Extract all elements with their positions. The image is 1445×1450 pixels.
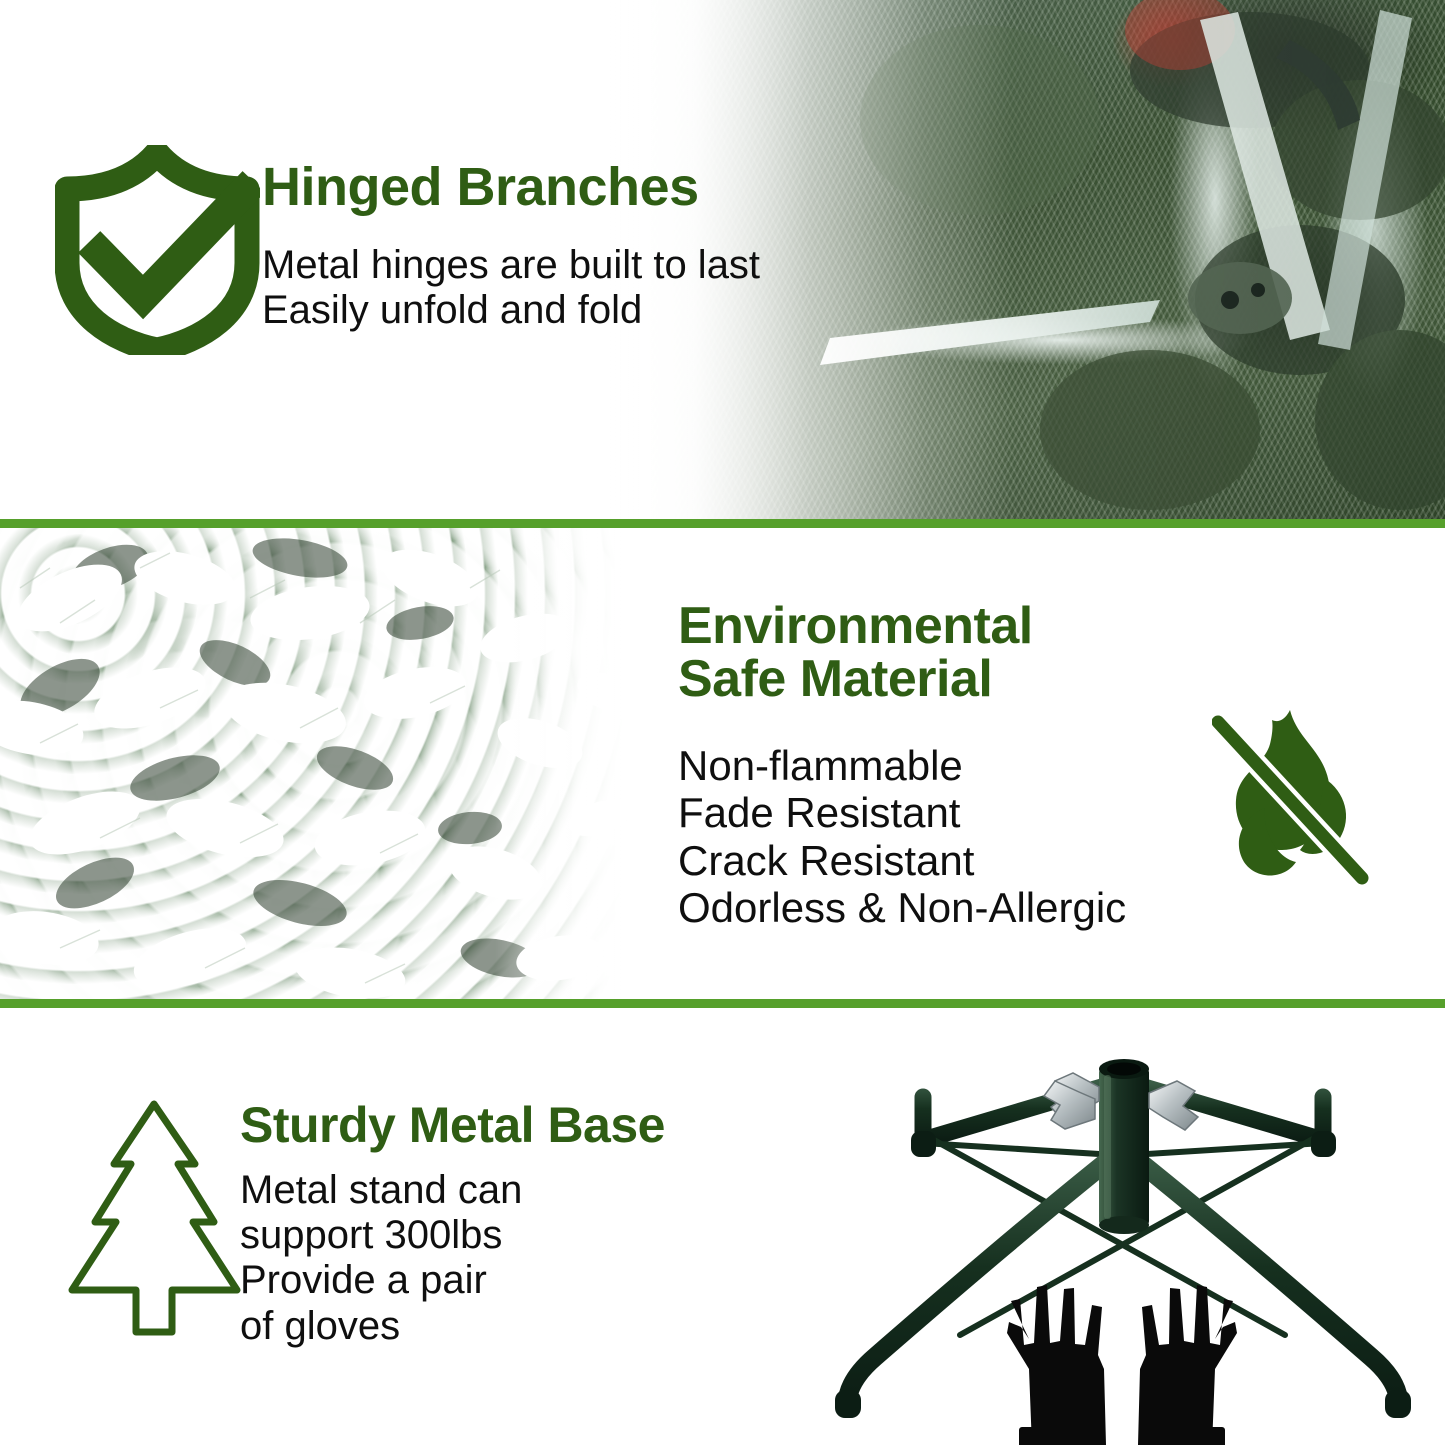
- product-feature-infographic: Hinged Branches Metal hinges are built t…: [0, 0, 1445, 1445]
- environmental-safe-material-heading: Environmental Safe Material: [678, 600, 1033, 706]
- divider-2: [0, 999, 1445, 1008]
- sturdy-metal-base-heading: Sturdy Metal Base: [240, 1100, 665, 1151]
- environmental-safe-material-body: Non-flammable Fade Resistant Crack Resis…: [678, 742, 1126, 932]
- christmas-tree-outline-icon: [62, 1092, 247, 1347]
- hinged-branches-body: Metal hinges are built to last Easily un…: [262, 243, 760, 333]
- flocked-branch-detail: [0, 528, 650, 1000]
- panel-hinged-branches: Hinged Branches Metal hinges are built t…: [0, 0, 1445, 520]
- snow-flocked-tree-photo: [0, 528, 650, 1000]
- sturdy-metal-base-body: Metal stand can support 300lbs Provide a…: [240, 1168, 522, 1349]
- glove-right: [1138, 1285, 1237, 1445]
- no-flame-icon: [1212, 700, 1372, 895]
- shield-check-icon: [55, 145, 260, 355]
- metal-tree-stand-with-gloves-photo: [815, 1035, 1430, 1445]
- hinged-branches-heading: Hinged Branches: [262, 160, 699, 215]
- divider-1: [0, 519, 1445, 528]
- glove-left: [1007, 1285, 1106, 1445]
